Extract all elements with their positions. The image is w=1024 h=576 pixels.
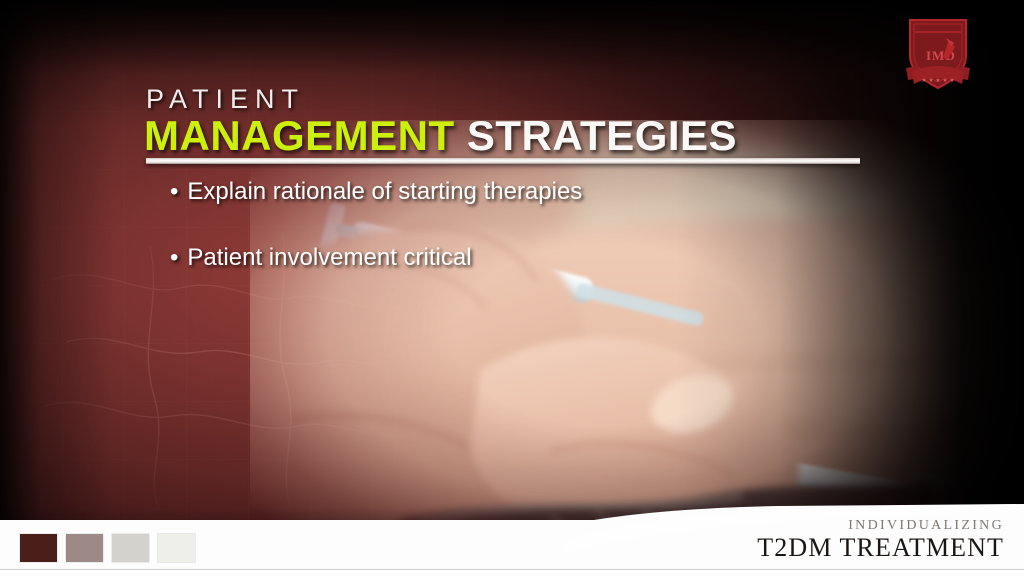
brand-eyebrow: INDIVIDUALIZING — [757, 518, 1004, 533]
swatch-mauve — [66, 534, 103, 562]
bullet-marker-icon: • — [170, 244, 178, 271]
title-underline-rule — [146, 158, 860, 164]
slide-title: MANAGEMENT STRATEGIES — [144, 112, 737, 160]
bullet-marker-icon: • — [170, 178, 178, 205]
list-item: •Patient involvement critical — [170, 244, 730, 272]
swatch-light-gray — [112, 534, 149, 562]
footer-divider — [0, 569, 1024, 570]
swatch-dark-maroon — [20, 534, 57, 562]
slide-title-highlight: MANAGEMENT — [144, 112, 455, 159]
presentation-slide: IMD ★ ★ ★ ★ ★ PATIENT MANAGEMENT STRATEG… — [0, 0, 1024, 576]
imd-crest-logo: IMD ★ ★ ★ ★ ★ — [902, 16, 974, 96]
color-swatch-strip — [20, 534, 195, 562]
brand-lockup: INDIVIDUALIZING T2DM TREATMENT — [757, 518, 1004, 564]
slide-kicker: PATIENT — [146, 84, 305, 115]
list-item: •Explain rationale of starting therapies — [170, 178, 730, 206]
list-item-label: Patient involvement critical — [187, 244, 471, 271]
slide-title-rest: STRATEGIES — [455, 112, 737, 159]
swatch-near-white — [158, 534, 195, 562]
svg-text:★ ★ ★ ★ ★: ★ ★ ★ ★ ★ — [921, 77, 955, 84]
bullet-list: •Explain rationale of starting therapies… — [170, 178, 730, 310]
brand-title: T2DM TREATMENT — [757, 533, 1004, 564]
list-item-label: Explain rationale of starting therapies — [187, 178, 582, 205]
